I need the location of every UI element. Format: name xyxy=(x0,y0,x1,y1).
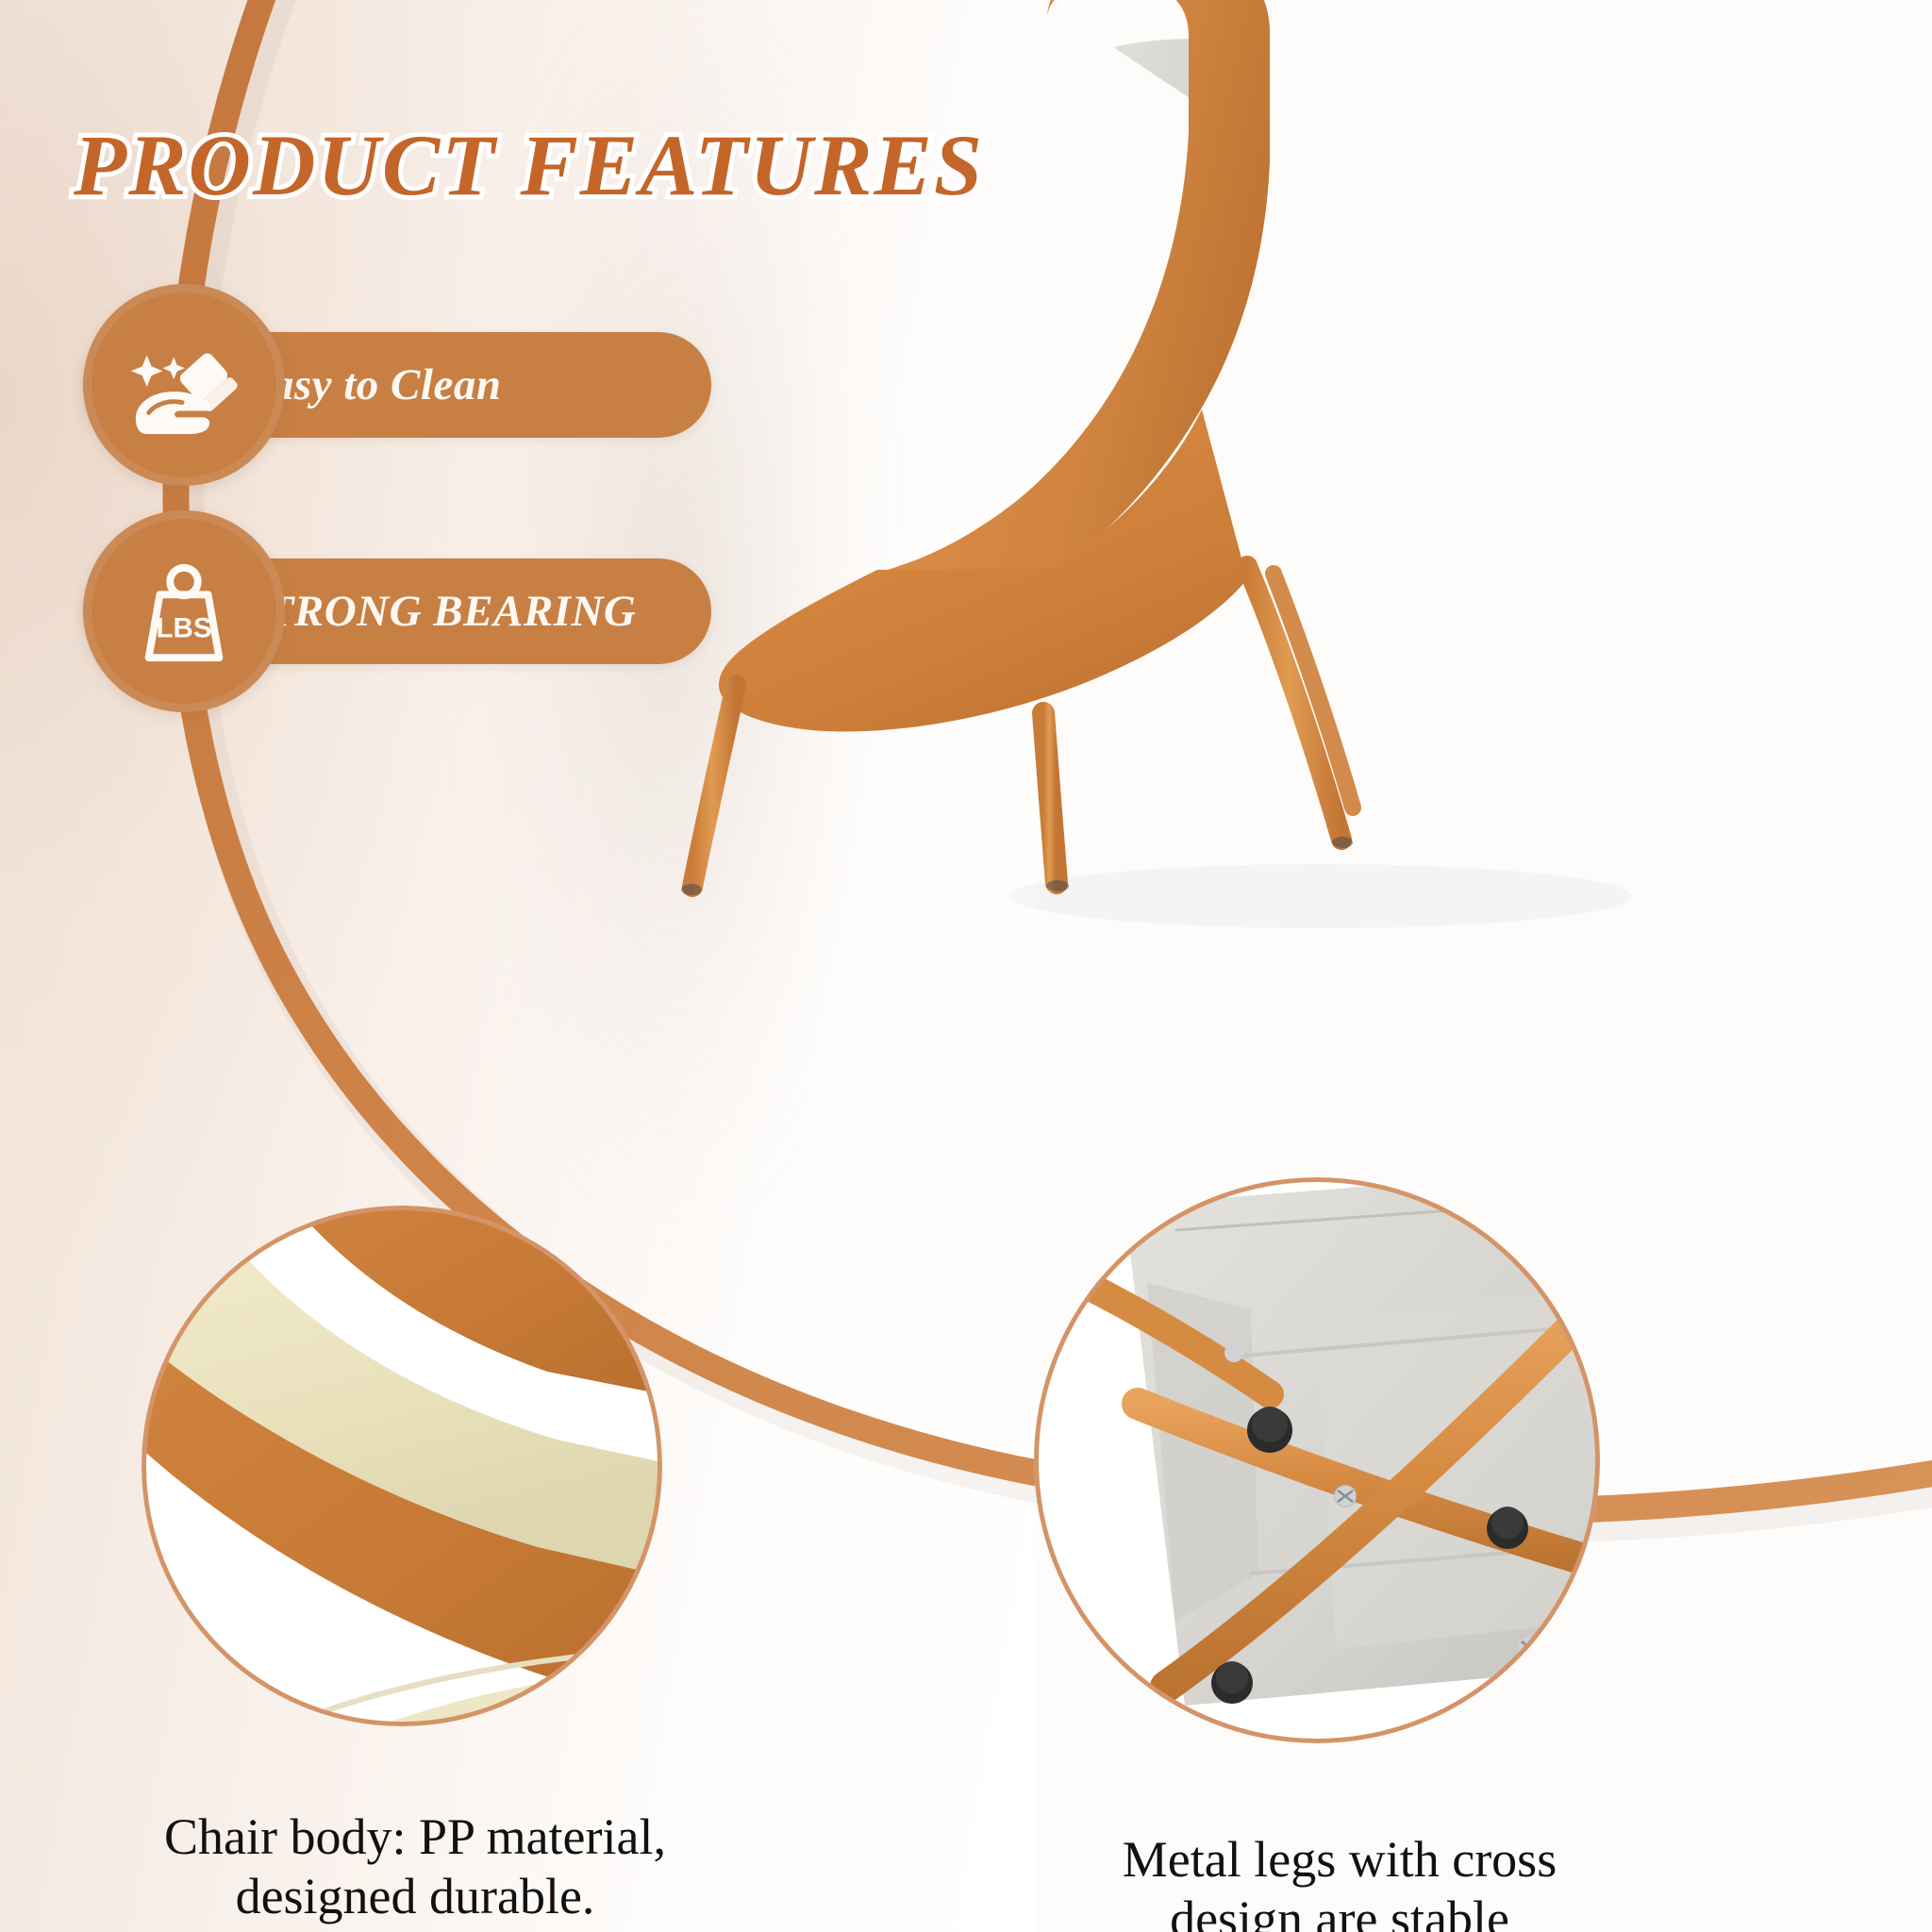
feature-label: STRONG BEARING xyxy=(241,586,636,637)
inset-pp-material xyxy=(142,1206,662,1726)
feature-strong-bearing[interactable]: STRONG BEARING LBS xyxy=(83,558,711,664)
product-photo-stacked-chairs xyxy=(877,0,1924,1207)
caption-metal-legs: Metal legs with cross design are stable xyxy=(1000,1830,1679,1932)
feature-easy-to-clean[interactable]: Easy to Clean xyxy=(83,332,711,438)
weight-icon-text: LBS xyxy=(157,613,212,644)
hand-sponge-sparkle-icon xyxy=(83,284,285,486)
inset-metal-legs xyxy=(1034,1177,1600,1743)
weight-lbs-icon: LBS xyxy=(83,510,285,712)
page-title: PRODUCT FEATURES xyxy=(74,115,984,215)
infographic-canvas: PRODUCT FEATURES Easy to Clean xyxy=(0,0,1932,1932)
caption-pp-material: Chair body: PP material, designed durabl… xyxy=(57,1807,774,1926)
